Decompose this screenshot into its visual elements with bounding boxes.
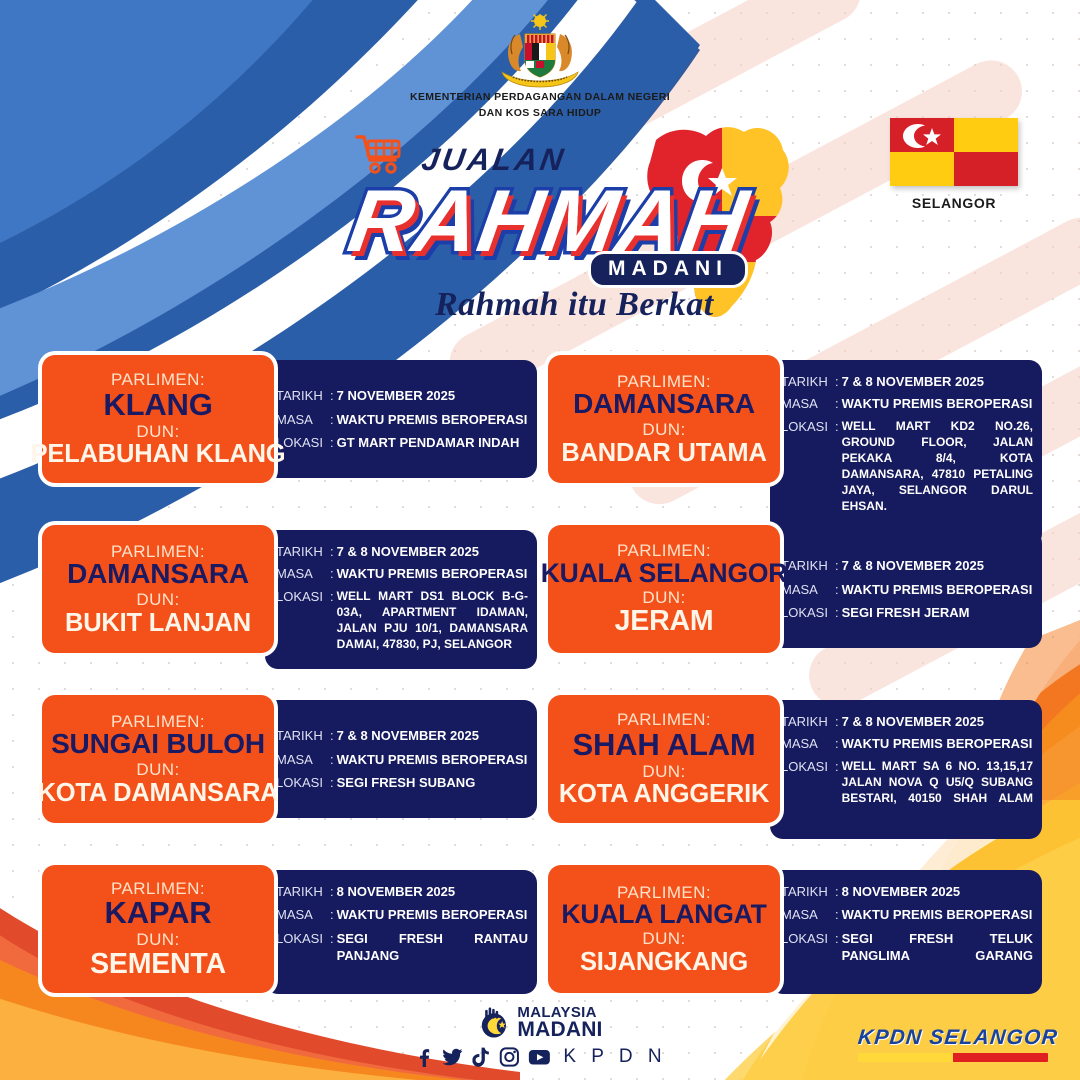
parlimen-name: KUALA LANGAT — [561, 901, 766, 928]
colon: : — [833, 418, 842, 435]
kpdn-handle: K P D N — [563, 1046, 666, 1068]
tarikh-label: TARIKH — [781, 713, 833, 730]
madani-badge: MADANI — [588, 251, 748, 288]
lokasi-label: LOKASI — [781, 930, 833, 947]
masa-label: MASA — [781, 906, 833, 923]
detail-lokasi: LOKASI : GT MART PENDAMAR INDAH — [276, 434, 528, 451]
venue-details-panel: TARIKH : 8 NOVEMBER 2025 MASA : WAKTU PR… — [770, 870, 1042, 994]
parlimen-name: SHAH ALAM — [572, 729, 755, 761]
masa-label: MASA — [276, 565, 328, 582]
kpdn-selangor-bar — [858, 1053, 1048, 1062]
bar-red — [953, 1053, 1048, 1062]
state-flag-block: SELANGOR — [890, 118, 1018, 211]
venue-card[interactable]: TARIKH : 7 NOVEMBER 2025 MASA : WAKTU PR… — [42, 355, 537, 483]
venue-details-panel: TARIKH : 7 & 8 NOVEMBER 2025 MASA : WAKT… — [265, 530, 537, 669]
venue-name-panel: PARLIMEN: DAMANSARA DUN: BUKIT LANJAN — [42, 525, 274, 653]
detail-masa: MASA : WAKTU PREMIS BEROPERASI — [276, 565, 528, 582]
venue-card[interactable]: TARIKH : 8 NOVEMBER 2025 MASA : WAKTU PR… — [548, 865, 1042, 993]
colon: : — [833, 758, 842, 775]
malaysia-coat-of-arms-icon — [480, 14, 600, 88]
masa-label: MASA — [781, 581, 833, 598]
dun-label: DUN: — [136, 930, 179, 950]
kpdn-selangor-badge: KPDN SELANGOR — [858, 1026, 1058, 1062]
tarikh-label: TARIKH — [276, 883, 328, 900]
tarikh-label: TARIKH — [781, 373, 833, 390]
venue-details-panel: TARIKH : 7 & 8 NOVEMBER 2025 MASA : WAKT… — [265, 700, 537, 818]
tarikh-value: 8 NOVEMBER 2025 — [337, 883, 528, 900]
detail-masa: MASA : WAKTU PREMIS BEROPERASI — [781, 395, 1033, 412]
lokasi-label: LOKASI — [781, 418, 833, 435]
colon: : — [328, 588, 337, 605]
venue-details-panel: TARIKH : 8 NOVEMBER 2025 MASA : WAKTU PR… — [265, 870, 537, 994]
colon: : — [833, 735, 842, 752]
parlimen-name: KUALA SELANGOR — [541, 560, 788, 587]
detail-tarikh: TARIKH : 7 & 8 NOVEMBER 2025 — [781, 713, 1033, 730]
venue-card-grid: TARIKH : 7 NOVEMBER 2025 MASA : WAKTU PR… — [0, 355, 1080, 1035]
rahmah-logo: JUALAN RAHMAH RAHMAH MADANI Rahmah itu B… — [330, 128, 760, 328]
venue-card[interactable]: TARIKH : 7 & 8 NOVEMBER 2025 MASA : WAKT… — [42, 525, 537, 653]
madani-wordmark: MALAYSIA MADANI — [517, 1006, 602, 1040]
colon: : — [833, 906, 842, 923]
detail-lokasi: LOKASI : SEGI FRESH SUBANG — [276, 774, 528, 791]
detail-lokasi: LOKASI : WELL MART SA 6 NO. 13,15,17 JAL… — [781, 758, 1033, 822]
venue-details-panel: TARIKH : 7 & 8 NOVEMBER 2025 MASA : WAKT… — [770, 360, 1042, 547]
colon: : — [328, 411, 337, 428]
venue-card[interactable]: TARIKH : 7 & 8 NOVEMBER 2025 MASA : WAKT… — [548, 355, 1042, 483]
tarikh-label: TARIKH — [276, 543, 328, 560]
dun-label: DUN: — [136, 422, 179, 442]
state-label: SELANGOR — [890, 195, 1018, 211]
venue-card[interactable]: TARIKH : 7 & 8 NOVEMBER 2025 MASA : WAKT… — [42, 695, 537, 823]
dun-name: PELABUHAN KLANG — [31, 441, 286, 468]
parlimen-name: KAPAR — [105, 897, 212, 929]
detail-masa: MASA : WAKTU PREMIS BEROPERASI — [276, 751, 528, 768]
detail-masa: MASA : WAKTU PREMIS BEROPERASI — [276, 906, 528, 923]
madani-line-2: MADANI — [517, 1020, 602, 1040]
tarikh-value: 7 & 8 NOVEMBER 2025 — [842, 557, 1033, 574]
masa-value: WAKTU PREMIS BEROPERASI — [337, 751, 528, 768]
kpdn-selangor-text: KPDN SELANGOR — [857, 1026, 1059, 1050]
tarikh-label: TARIKH — [781, 557, 833, 574]
colon: : — [833, 883, 842, 900]
facebook-icon[interactable] — [413, 1047, 433, 1067]
tarikh-value: 7 NOVEMBER 2025 — [337, 387, 528, 404]
ministry-line-1: KEMENTERIAN PERDAGANGAN DALAM NEGERI — [390, 91, 690, 104]
dun-label: DUN: — [136, 760, 179, 780]
card-row-3: TARIKH : 7 & 8 NOVEMBER 2025 MASA : WAKT… — [0, 695, 1080, 865]
colon: : — [328, 434, 337, 451]
detail-masa: MASA : WAKTU PREMIS BEROPERASI — [276, 411, 528, 428]
venue-name-panel: PARLIMEN: KLANG DUN: PELABUHAN KLANG — [42, 355, 274, 483]
tarikh-label: TARIKH — [781, 883, 833, 900]
detail-masa: MASA : WAKTU PREMIS BEROPERASI — [781, 906, 1033, 923]
lokasi-value: SEGI FRESH JERAM — [842, 604, 1033, 621]
card-row-2: TARIKH : 7 & 8 NOVEMBER 2025 MASA : WAKT… — [0, 525, 1080, 695]
dun-label: DUN: — [642, 762, 685, 782]
tarikh-value: 7 & 8 NOVEMBER 2025 — [842, 373, 1033, 390]
bar-yellow — [858, 1053, 953, 1062]
detail-masa: MASA : WAKTU PREMIS BEROPERASI — [781, 581, 1033, 598]
tarikh-value: 7 & 8 NOVEMBER 2025 — [842, 713, 1033, 730]
colon: : — [328, 751, 337, 768]
detail-lokasi: LOKASI : WELL MART DS1 BLOCK B-G-03A, AP… — [276, 588, 528, 652]
colon: : — [328, 774, 337, 791]
venue-details-panel: TARIKH : 7 & 8 NOVEMBER 2025 MASA : WAKT… — [770, 700, 1042, 839]
dun-name: KOTA DAMANSARA — [38, 780, 279, 807]
venue-card[interactable]: TARIKH : 7 & 8 NOVEMBER 2025 MASA : WAKT… — [548, 695, 1042, 823]
masa-value: WAKTU PREMIS BEROPERASI — [337, 906, 528, 923]
dun-label: DUN: — [136, 590, 179, 610]
selangor-flag-icon — [890, 118, 1018, 186]
detail-tarikh: TARIKH : 7 NOVEMBER 2025 — [276, 387, 528, 404]
dun-name: SEMENTA — [90, 950, 226, 980]
lokasi-value: SEGI FRESH TELUK PANGLIMA GARANG — [842, 930, 1033, 982]
youtube-icon[interactable] — [528, 1047, 550, 1067]
tarikh-value: 7 & 8 NOVEMBER 2025 — [337, 543, 528, 560]
dun-name: BUKIT LANJAN — [65, 610, 251, 637]
social-links[interactable]: K P D N — [413, 1046, 666, 1068]
colon: : — [328, 727, 337, 744]
lokasi-value: WELL MART KD2 NO.26, GROUND FLOOR, JALAN… — [842, 418, 1033, 531]
colon: : — [833, 713, 842, 730]
dun-name: SIJANGKANG — [580, 949, 748, 976]
venue-name-panel: PARLIMEN: KUALA LANGAT DUN: SIJANGKANG — [548, 865, 780, 993]
colon: : — [833, 395, 842, 412]
lokasi-value: GT MART PENDAMAR INDAH — [337, 434, 528, 451]
dun-name: JERAM — [615, 607, 714, 637]
lokasi-label: LOKASI — [276, 774, 328, 791]
masa-value: WAKTU PREMIS BEROPERASI — [842, 735, 1033, 752]
lokasi-label: LOKASI — [276, 588, 328, 605]
ministry-block: KEMENTERIAN PERDAGANGAN DALAM NEGERI DAN… — [390, 14, 690, 121]
poster-footer: MALAYSIA MADANI K P D N KPDN SELANGOR — [0, 988, 1080, 1080]
instagram-icon[interactable] — [499, 1047, 519, 1067]
parlimen-name: DAMANSARA — [573, 390, 755, 419]
colon: : — [328, 543, 337, 560]
detail-tarikh: TARIKH : 8 NOVEMBER 2025 — [276, 883, 528, 900]
colon: : — [328, 930, 337, 947]
lokasi-label: LOKASI — [276, 930, 328, 947]
dun-label: DUN: — [642, 929, 685, 949]
detail-lokasi: LOKASI : SEGI FRESH JERAM — [781, 604, 1033, 621]
parlimen-name: DAMANSARA — [67, 560, 249, 589]
colon: : — [833, 557, 842, 574]
masa-value: WAKTU PREMIS BEROPERASI — [337, 565, 528, 582]
card-row-1: TARIKH : 7 NOVEMBER 2025 MASA : WAKTU PR… — [0, 355, 1080, 525]
twitter-icon[interactable] — [442, 1047, 463, 1067]
lokasi-value: WELL MART SA 6 NO. 13,15,17 JALAN NOVA Q… — [842, 758, 1033, 822]
dun-label: DUN: — [642, 420, 685, 440]
masa-value: WAKTU PREMIS BEROPERASI — [337, 411, 528, 428]
masa-label: MASA — [276, 751, 328, 768]
venue-name-panel: PARLIMEN: DAMANSARA DUN: BANDAR UTAMA — [548, 355, 780, 483]
detail-tarikh: TARIKH : 7 & 8 NOVEMBER 2025 — [781, 373, 1033, 390]
colon: : — [833, 604, 842, 621]
colon: : — [833, 581, 842, 598]
colon: : — [328, 565, 337, 582]
detail-lokasi: LOKASI : WELL MART KD2 NO.26, GROUND FLO… — [781, 418, 1033, 531]
masa-value: WAKTU PREMIS BEROPERASI — [842, 581, 1033, 598]
masa-value: WAKTU PREMIS BEROPERASI — [842, 906, 1033, 923]
lokasi-value: SEGI FRESH SUBANG — [337, 774, 528, 791]
tarikh-label: TARIKH — [276, 387, 328, 404]
dun-name: KOTA ANGGERIK — [559, 781, 769, 808]
detail-tarikh: TARIKH : 7 & 8 NOVEMBER 2025 — [781, 557, 1033, 574]
venue-card[interactable]: TARIKH : 7 & 8 NOVEMBER 2025 MASA : WAKT… — [548, 525, 1042, 653]
dun-name: BANDAR UTAMA — [561, 440, 766, 467]
masa-label: MASA — [781, 735, 833, 752]
tagline-text: Rahmah itu Berkat — [435, 286, 714, 324]
masa-value: WAKTU PREMIS BEROPERASI — [842, 395, 1033, 412]
venue-details-panel: TARIKH : 7 & 8 NOVEMBER 2025 MASA : WAKT… — [770, 530, 1042, 648]
detail-masa: MASA : WAKTU PREMIS BEROPERASI — [781, 735, 1033, 752]
masa-label: MASA — [781, 395, 833, 412]
colon: : — [328, 387, 337, 404]
tarikh-value: 7 & 8 NOVEMBER 2025 — [337, 727, 528, 744]
tarikh-label: TARIKH — [276, 727, 328, 744]
malaysia-madani-icon — [477, 1006, 510, 1039]
venue-name-panel: PARLIMEN: SUNGAI BULOH DUN: KOTA DAMANSA… — [42, 695, 274, 823]
detail-tarikh: TARIKH : 8 NOVEMBER 2025 — [781, 883, 1033, 900]
venue-name-panel: PARLIMEN: SHAH ALAM DUN: KOTA ANGGERIK — [548, 695, 780, 823]
tarikh-value: 8 NOVEMBER 2025 — [842, 883, 1033, 900]
detail-lokasi: LOKASI : SEGI FRESH TELUK PANGLIMA GARAN… — [781, 930, 1033, 982]
colon: : — [833, 930, 842, 947]
parlimen-name: SUNGAI BULOH — [51, 730, 265, 759]
malaysia-madani-logo: MALAYSIA MADANI — [477, 1006, 602, 1040]
masa-label: MASA — [276, 411, 328, 428]
venue-details-panel: TARIKH : 7 NOVEMBER 2025 MASA : WAKTU PR… — [265, 360, 537, 478]
colon: : — [328, 883, 337, 900]
venue-card[interactable]: TARIKH : 8 NOVEMBER 2025 MASA : WAKTU PR… — [42, 865, 537, 993]
lokasi-value: WELL MART DS1 BLOCK B-G-03A, APARTMENT I… — [337, 588, 528, 652]
lokasi-label: LOKASI — [781, 758, 833, 775]
detail-lokasi: LOKASI : SEGI FRESH RANTAU PANJANG — [276, 930, 528, 982]
colon: : — [328, 906, 337, 923]
parlimen-name: KLANG — [103, 389, 212, 421]
detail-tarikh: TARIKH : 7 & 8 NOVEMBER 2025 — [276, 727, 528, 744]
lokasi-label: LOKASI — [781, 604, 833, 621]
venue-name-panel: PARLIMEN: KAPAR DUN: SEMENTA — [42, 865, 274, 993]
tiktok-icon[interactable] — [472, 1047, 490, 1067]
venue-name-panel: PARLIMEN: KUALA SELANGOR DUN: JERAM — [548, 525, 780, 653]
lokasi-value: SEGI FRESH RANTAU PANJANG — [337, 930, 528, 982]
detail-tarikh: TARIKH : 7 & 8 NOVEMBER 2025 — [276, 543, 528, 560]
colon: : — [833, 373, 842, 390]
masa-label: MASA — [276, 906, 328, 923]
